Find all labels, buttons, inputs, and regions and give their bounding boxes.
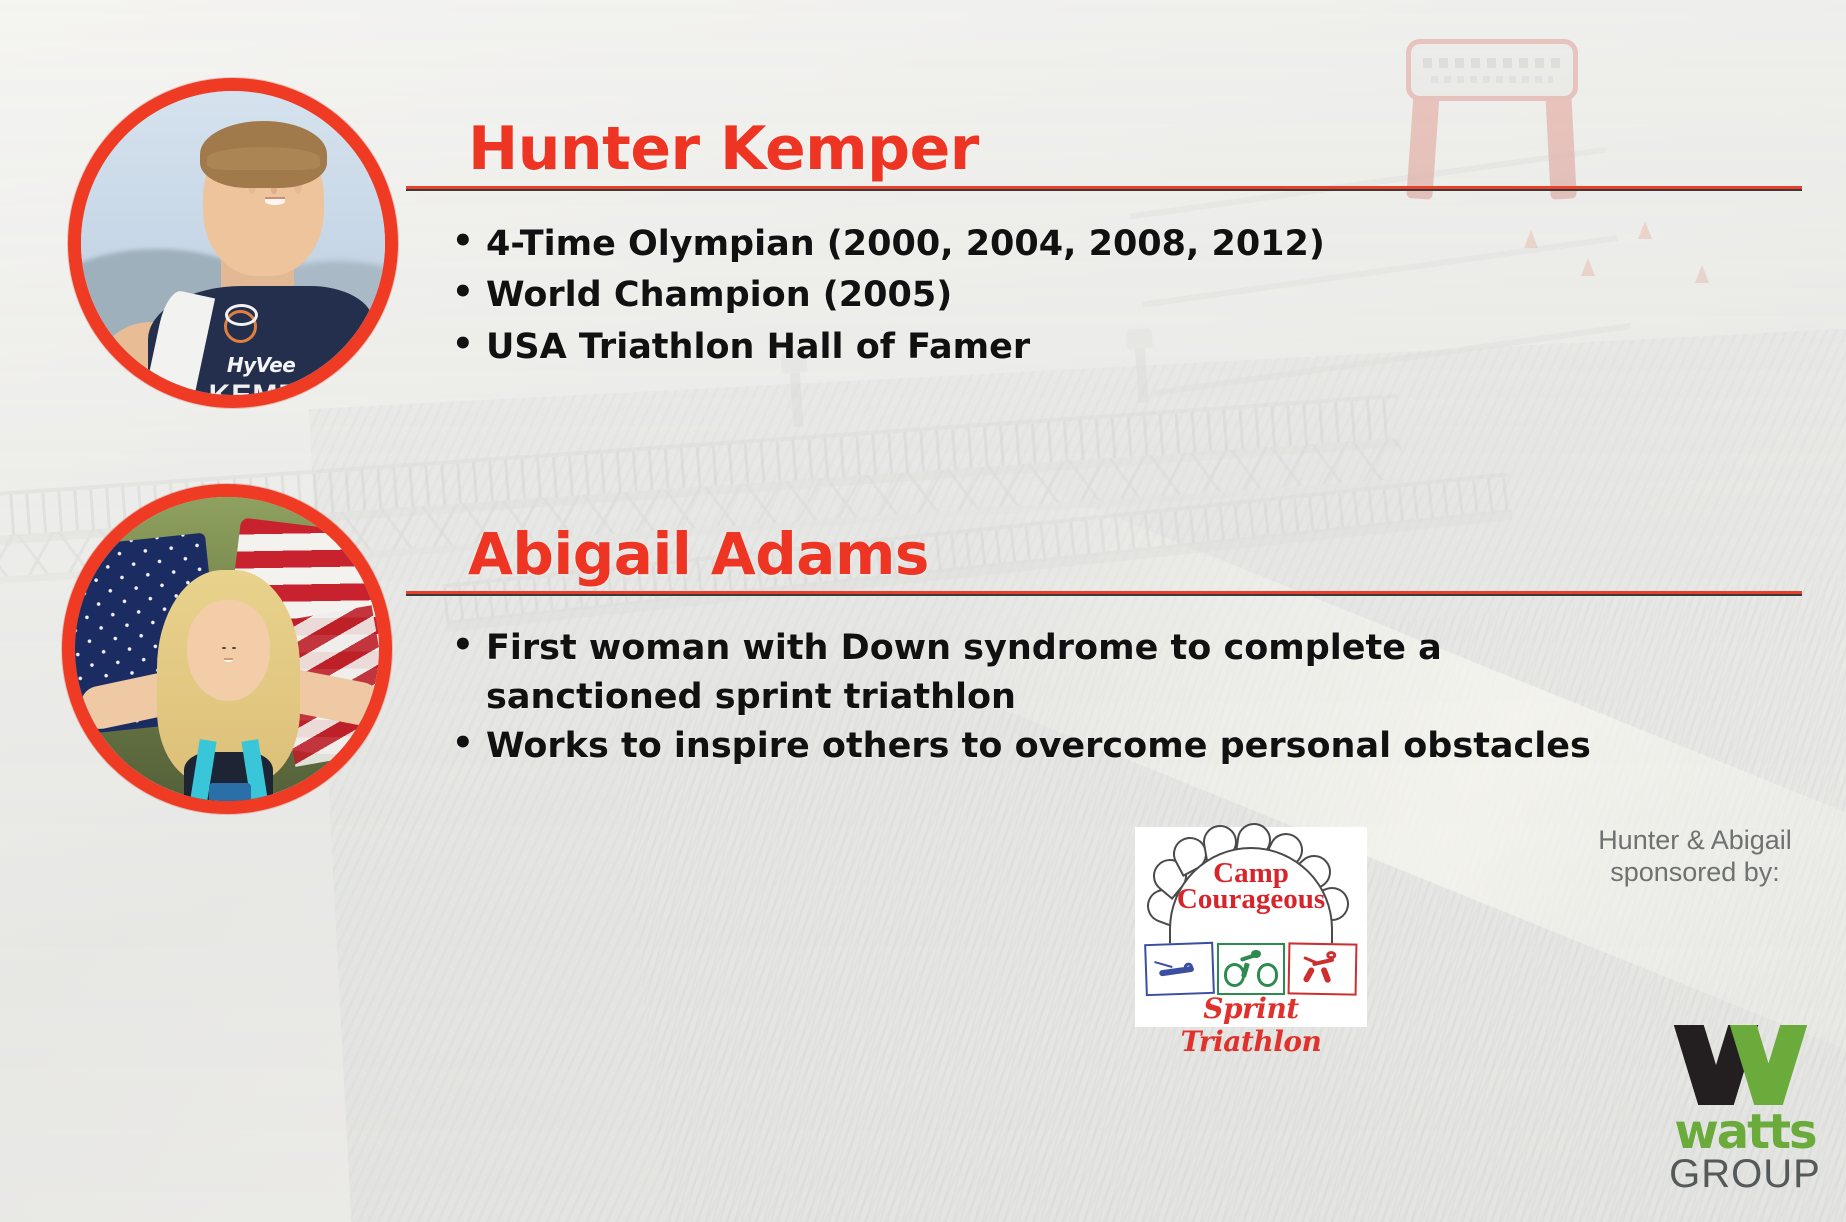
bullet-list-abigail-adams: First woman with Down syndrome to comple… xyxy=(404,624,1804,771)
bullet-item: Works to inspire others to overcome pers… xyxy=(404,722,1804,771)
cyclist-icon xyxy=(1217,943,1286,995)
avatar-hunter-kemper: HyVee KEMPER xyxy=(68,78,398,408)
avatar-abigail-adams xyxy=(62,484,392,814)
camp-script-text: Sprint Triathlon xyxy=(1135,992,1367,1058)
athlete-block-hunter-kemper: Hunter Kemper 4-Time Olympian (2000, 200… xyxy=(404,118,1804,375)
bullet-item: USA Triathlon Hall of Famer xyxy=(404,324,1804,371)
runner-glyph xyxy=(1294,949,1351,990)
hunter-kemper-photo: HyVee KEMPER xyxy=(81,91,385,395)
sponsor-note: Hunter & Abigail sponsored by: xyxy=(1572,824,1818,889)
photo-smile xyxy=(265,197,286,204)
runner-icon xyxy=(1288,942,1358,995)
athlete-name-abigail-adams: Abigail Adams xyxy=(468,524,1804,585)
triathlon-icon-row xyxy=(1145,943,1357,995)
photo-smile xyxy=(224,658,233,662)
runner-leg xyxy=(1303,966,1316,983)
bullet-item: 4-Time Olympian (2000, 2004, 2008, 2012) xyxy=(404,221,1804,268)
photo-suit-brand-text: HyVee xyxy=(227,353,295,377)
swimmer-glyph xyxy=(1150,948,1208,990)
bullet-item: First woman with Down syndrome to comple… xyxy=(404,624,1804,673)
photo-hair xyxy=(200,121,328,188)
camp-title-line-2: Courageous xyxy=(1135,885,1367,914)
bullet-item-continuation: sanctioned sprint triathlon xyxy=(404,673,1804,722)
cyclist-glyph xyxy=(1223,949,1280,989)
cyclist-leg xyxy=(1241,962,1250,976)
cyclist-head xyxy=(1251,950,1261,958)
runner-head xyxy=(1326,951,1336,960)
bike-wheel xyxy=(1257,963,1279,986)
title-divider-rule xyxy=(406,591,1802,596)
bullet-item: World Champion (2005) xyxy=(404,272,1804,319)
photo-medal xyxy=(209,783,252,801)
camp-courageous-logo: Camp Courageous xyxy=(1135,827,1367,1027)
watts-group-logo: watts GROUP xyxy=(1650,1025,1840,1200)
runner-leg xyxy=(1321,966,1332,983)
presentation-slide: HyVee KEMPER Hunter Kemper xyxy=(0,0,1846,1222)
abigail-adams-photo xyxy=(75,497,379,801)
sponsor-note-line-2: sponsored by: xyxy=(1572,856,1818,888)
watts-wordmark: watts xyxy=(1650,1111,1840,1154)
watts-group-word: GROUP xyxy=(1650,1154,1840,1194)
camp-courageous-mark: Camp Courageous xyxy=(1135,827,1367,1027)
athlete-name-hunter-kemper: Hunter Kemper xyxy=(468,118,1804,182)
swimmer-icon xyxy=(1144,942,1214,996)
photo-face xyxy=(187,600,269,700)
sponsor-note-line-1: Hunter & Abigail xyxy=(1572,824,1818,856)
bullet-list-hunter-kemper: 4-Time Olympian (2000, 2004, 2008, 2012)… xyxy=(404,221,1804,371)
photo-suit-name-text: KEMPER xyxy=(209,379,343,395)
title-divider-rule xyxy=(406,186,1802,191)
photo-eye xyxy=(232,647,236,650)
athlete-block-abigail-adams: Abigail Adams First woman with Down synd… xyxy=(404,524,1804,771)
photo-eye xyxy=(222,647,226,650)
watts-w-mark-icon xyxy=(1680,1025,1810,1105)
